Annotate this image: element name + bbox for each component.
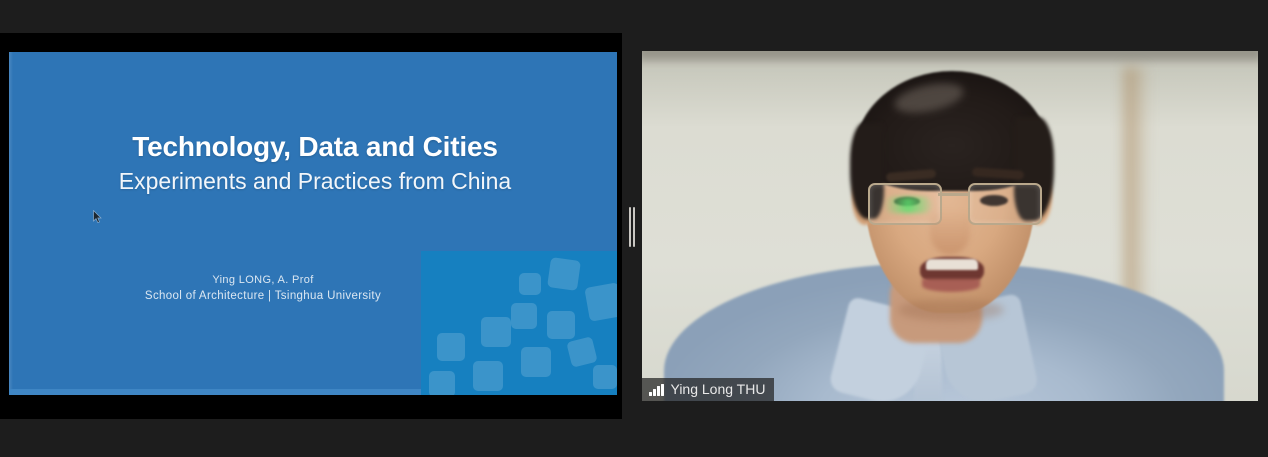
splitter-bar [633, 207, 635, 247]
decorative-square [566, 336, 598, 368]
decorative-square [547, 311, 575, 339]
decorative-square [511, 303, 537, 329]
presentation-slide[interactable]: Technology, Data and Cities Experiments … [9, 52, 617, 395]
slide-author-block: Ying LONG, A. Prof School of Architectur… [9, 272, 517, 305]
nose [930, 211, 970, 255]
decorative-square [593, 365, 617, 389]
decorative-square [437, 333, 465, 361]
decorative-square [547, 257, 581, 291]
slide-subtitle: Experiments and Practices from China [9, 166, 617, 196]
decorative-square [519, 273, 541, 295]
pane-splitter-handle[interactable] [626, 203, 638, 251]
slide-author: Ying LONG, A. Prof [9, 272, 517, 288]
wall-trim [642, 51, 1258, 67]
lens-green-reflection [884, 197, 932, 213]
participant-name-badge: Ying Long THU [642, 378, 774, 401]
chin-shadow [898, 299, 1004, 321]
splitter-bar [629, 207, 631, 247]
slide-left-sheen [9, 52, 13, 395]
eyeglass-lens-right [968, 183, 1042, 225]
decorative-square [429, 371, 455, 395]
screen-root: Technology, Data and Cities Experiments … [0, 0, 1268, 457]
shared-screen-pane[interactable]: Technology, Data and Cities Experiments … [0, 33, 622, 419]
lower-lip [922, 279, 980, 292]
teeth [926, 259, 978, 270]
slide-title: Technology, Data and Cities [9, 130, 617, 164]
signal-bars-icon [649, 384, 664, 396]
slide-affiliation: School of Architecture | Tsinghua Univer… [9, 288, 517, 305]
decorative-square [473, 361, 503, 391]
decorative-square [481, 317, 511, 347]
participant-name-label: Ying Long THU [671, 378, 766, 401]
slide-bottom-strip [9, 389, 431, 395]
decorative-square [584, 282, 617, 321]
eyeglass-bridge [938, 193, 970, 196]
slide-heading-block: Technology, Data and Cities Experiments … [9, 130, 617, 196]
decorative-square [521, 347, 551, 377]
mouse-pointer-icon [93, 210, 103, 224]
participant-video-tile[interactable]: Ying Long THU [642, 51, 1258, 401]
